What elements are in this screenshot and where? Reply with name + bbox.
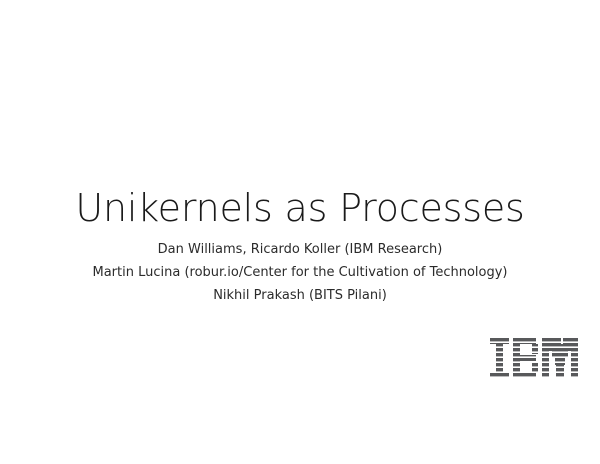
ibm-logo [490,338,578,378]
title-slide: Unikernels as Processes Dan Williams, Ri… [0,0,600,464]
page-title: Unikernels as Processes [0,184,600,232]
ibm-logo-stripes [490,338,578,376]
author-line-1: Dan Williams, Ricardo Koller (IBM Resear… [0,238,600,261]
title-block: Unikernels as Processes [0,184,600,232]
author-line-2: Martin Lucina (robur.io/Center for the C… [0,261,600,284]
authors-block: Dan Williams, Ricardo Koller (IBM Resear… [0,238,600,307]
author-line-3: Nikhil Prakash (BITS Pilani) [0,284,600,307]
